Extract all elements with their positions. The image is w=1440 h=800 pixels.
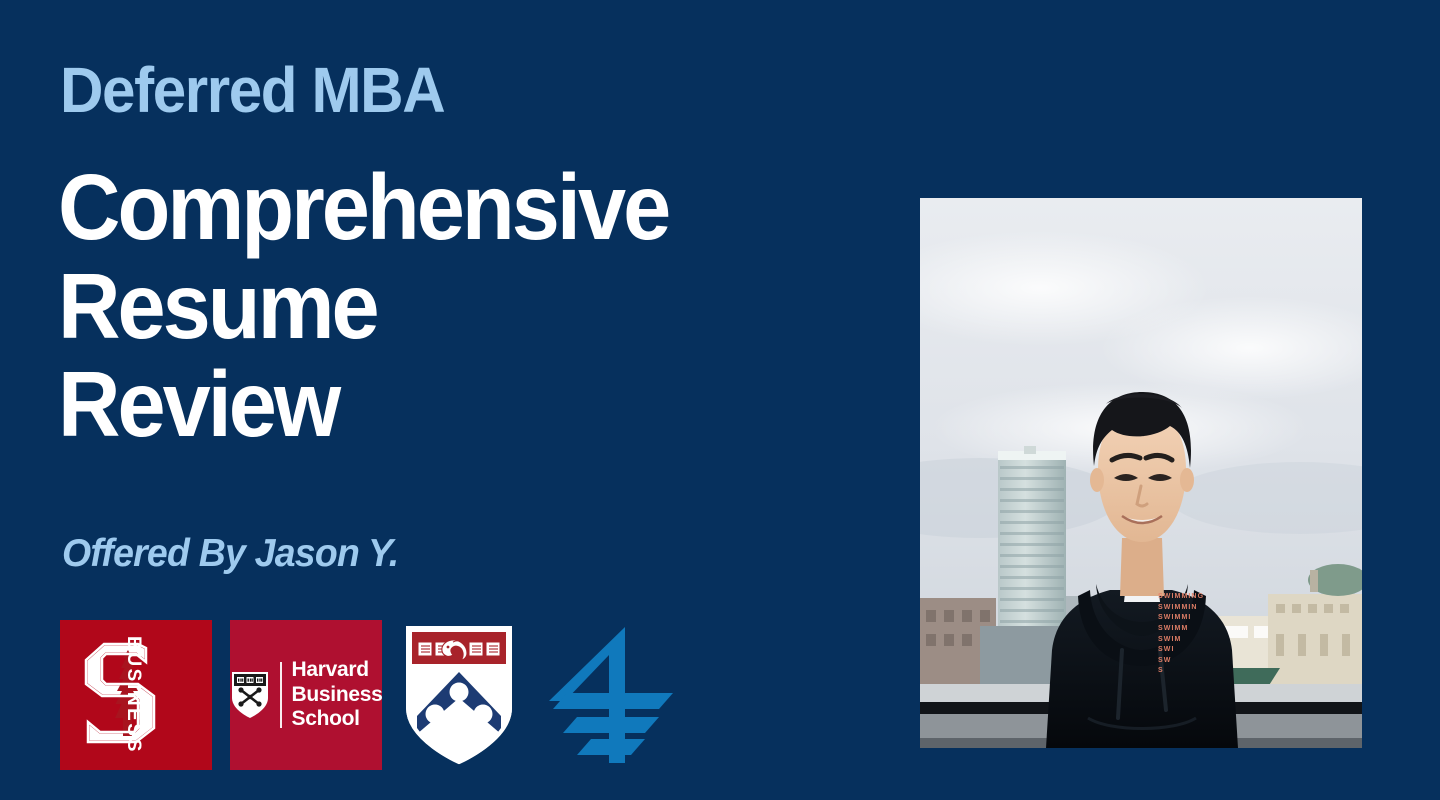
harvard-divider <box>280 662 282 728</box>
harvard-shield-icon <box>230 670 270 720</box>
stanford-business-logo: BUSINESS <box>60 620 212 770</box>
stanford-block-s-tree-icon: BUSINESS <box>76 636 196 754</box>
evercore-logo <box>536 620 686 770</box>
stanford-business-wordmark: BUSINESS <box>122 636 144 754</box>
portrait-illustration <box>920 198 1362 748</box>
page-title: Comprehensive Resume Review <box>58 158 668 454</box>
university-of-pennsylvania-logo <box>400 620 518 770</box>
portrait-photo: SWIMMING SWIMMIN SWIMMI SWIMM SWIM SWI S… <box>920 198 1362 748</box>
evercore-four-monogram-icon <box>547 625 675 765</box>
byline-offered-by: Offered By Jason Y. <box>62 534 398 573</box>
harvard-business-school-logo: Harvard Business School <box>230 620 382 770</box>
logo-row: BUSINESS <box>60 620 686 770</box>
promo-banner: Deferred MBA Comprehensive Resume Review… <box>0 0 1440 800</box>
harvard-business-school-wordmark: Harvard Business School <box>292 658 383 732</box>
hoodie-graphic-text: SWIMMING SWIMMIN SWIMMI SWIMM SWIM SWI S… <box>1158 592 1204 677</box>
penn-shield-icon <box>404 624 514 766</box>
eyebrow-label: Deferred MBA <box>60 58 444 122</box>
